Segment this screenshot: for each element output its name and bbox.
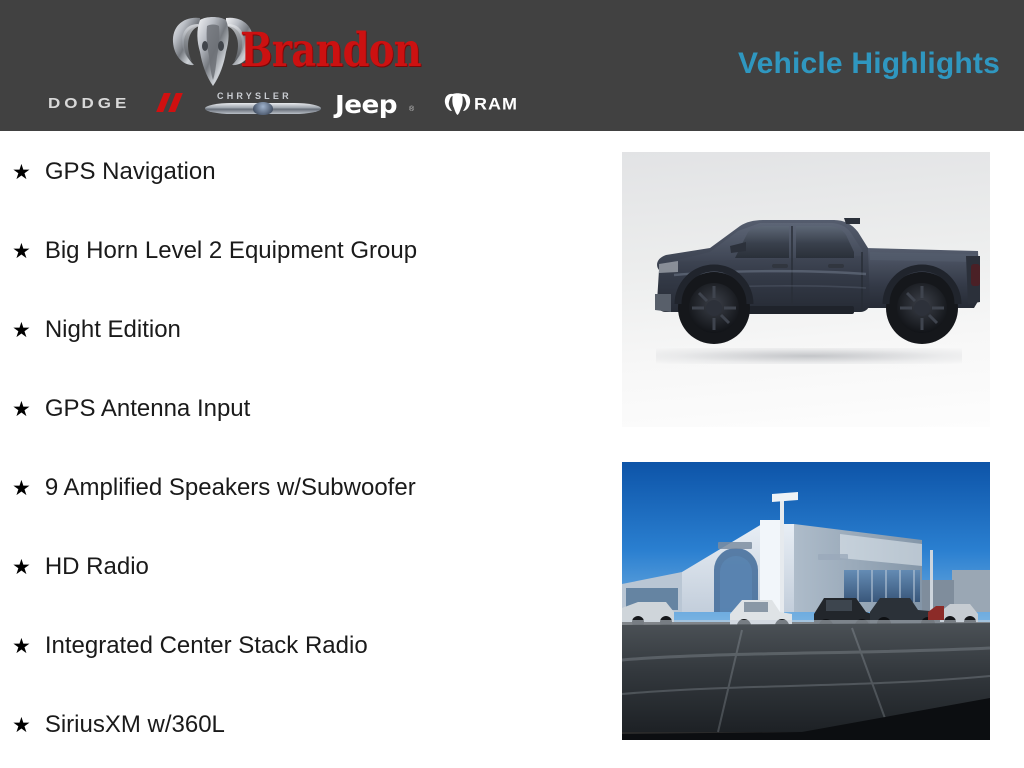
brand-badge-ram[interactable]: RAM bbox=[440, 90, 560, 118]
dealership-illustration bbox=[622, 462, 990, 740]
brand-badge-row: DODGE CHRYSLER Jeep ® bbox=[40, 90, 540, 120]
dealer-name: Brandon bbox=[240, 26, 421, 76]
star-bullet-icon: ★ bbox=[12, 478, 31, 499]
page-header: Brandon DODGE CHRYSLER Jeep ® bbox=[0, 0, 1024, 131]
list-item: ★ GPS Antenna Input bbox=[12, 392, 250, 426]
brand-label-jeep: Jeep bbox=[335, 90, 397, 119]
chrysler-crest-icon bbox=[253, 102, 273, 115]
star-bullet-icon: ★ bbox=[12, 636, 31, 657]
star-bullet-icon: ★ bbox=[12, 320, 31, 341]
feature-label: HD Radio bbox=[45, 553, 149, 581]
jeep-trademark-icon: ® bbox=[409, 106, 414, 113]
feature-label: GPS Antenna Input bbox=[45, 395, 251, 423]
brand-label-chrysler: CHRYSLER bbox=[217, 91, 292, 101]
brand-badge-dodge[interactable]: DODGE bbox=[48, 90, 193, 118]
star-bullet-icon: ★ bbox=[12, 557, 31, 578]
list-item: ★ 9 Amplified Speakers w/Subwoofer bbox=[12, 471, 416, 505]
vehicle-shadow bbox=[656, 348, 962, 364]
brand-label-ram: RAM bbox=[474, 95, 518, 114]
vehicle-side-profile-photo[interactable] bbox=[622, 152, 990, 427]
page-title: Vehicle Highlights bbox=[738, 47, 1000, 81]
vehicle-illustration bbox=[622, 152, 990, 427]
star-bullet-icon: ★ bbox=[12, 241, 31, 262]
brand-label-dodge: DODGE bbox=[48, 95, 130, 112]
dealer-logo[interactable]: Brandon DODGE CHRYSLER Jeep ® bbox=[40, 8, 540, 123]
star-bullet-icon: ★ bbox=[12, 399, 31, 420]
list-item: ★ Integrated Center Stack Radio bbox=[12, 629, 368, 663]
dealership-exterior-photo[interactable] bbox=[622, 462, 990, 740]
feature-label: Integrated Center Stack Radio bbox=[45, 632, 368, 660]
list-item: ★ GPS Navigation bbox=[12, 155, 216, 189]
list-item: ★ SiriusXM w/360L bbox=[12, 708, 225, 742]
star-bullet-icon: ★ bbox=[12, 715, 31, 736]
chrysler-wing-icon bbox=[205, 103, 259, 114]
ram-head-mini-icon bbox=[444, 92, 471, 116]
list-item: ★ Big Horn Level 2 Equipment Group bbox=[12, 234, 417, 268]
feature-label: GPS Navigation bbox=[45, 158, 216, 186]
brand-badge-chrysler[interactable]: CHRYSLER bbox=[203, 90, 323, 118]
chrysler-wing-icon bbox=[267, 103, 321, 114]
brand-badge-jeep[interactable]: Jeep ® bbox=[335, 90, 430, 118]
star-bullet-icon: ★ bbox=[12, 162, 31, 183]
vehicle-highlights-list: ★ GPS Navigation ★ Big Horn Level 2 Equi… bbox=[0, 131, 600, 768]
list-item: ★ HD Radio bbox=[12, 550, 149, 584]
feature-label: SiriusXM w/360L bbox=[45, 711, 225, 739]
feature-label: Big Horn Level 2 Equipment Group bbox=[45, 237, 417, 265]
feature-label: 9 Amplified Speakers w/Subwoofer bbox=[45, 474, 416, 502]
feature-label: Night Edition bbox=[45, 316, 181, 344]
list-item: ★ Night Edition bbox=[12, 313, 181, 347]
dodge-slash-icon bbox=[168, 93, 183, 112]
